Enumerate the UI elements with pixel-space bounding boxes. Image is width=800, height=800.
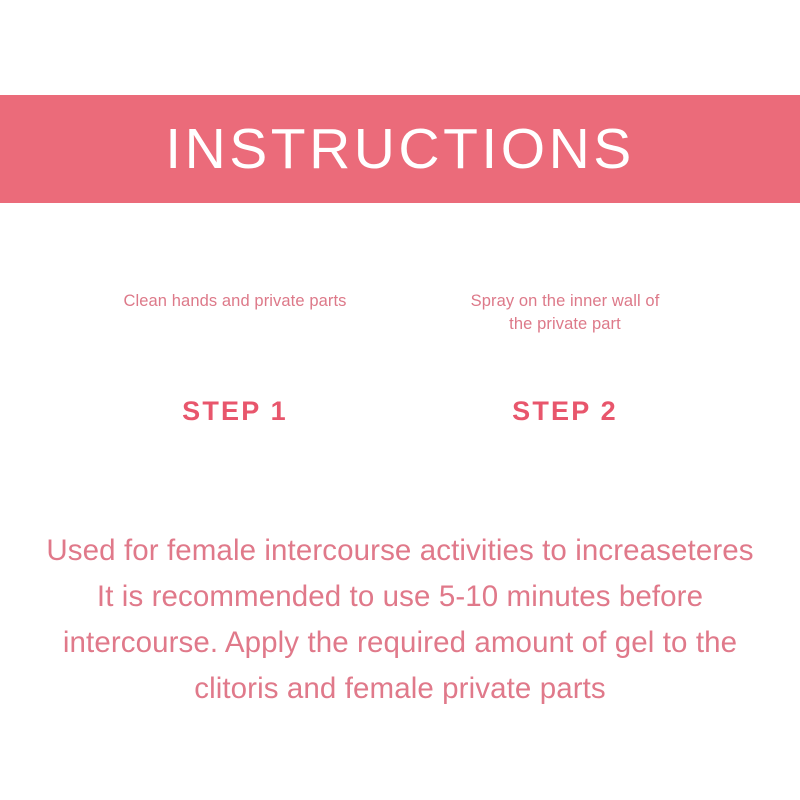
step-2-caption-line-1: Spray on the inner wall of	[400, 290, 730, 313]
step-1-caption-line-1: Clean hands and private parts	[70, 290, 400, 313]
step-2-caption-line-2: the private part	[400, 313, 730, 336]
step-item-1: Clean hands and private parts STEP 1	[70, 290, 400, 425]
step-2-label: STEP 2	[400, 398, 730, 425]
instructions-page: INSTRUCTIONS Clean hands and private par…	[0, 0, 800, 800]
body-line-1: Used for female intercourse activities t…	[0, 528, 800, 574]
step-item-2: Spray on the inner wall of the private p…	[400, 290, 730, 425]
header-banner: INSTRUCTIONS	[0, 95, 800, 203]
step-2-caption: Spray on the inner wall of the private p…	[400, 290, 730, 336]
body-line-3: intercourse. Apply the required amount o…	[0, 620, 800, 666]
body-line-4: clitoris and female private parts	[0, 666, 800, 712]
instructions-body: Used for female intercourse activities t…	[0, 528, 800, 712]
page-title: INSTRUCTIONS	[165, 121, 635, 178]
body-line-2: It is recommended to use 5-10 minutes be…	[0, 574, 800, 620]
steps-row: Clean hands and private parts STEP 1 Spr…	[0, 290, 800, 425]
step-1-label: STEP 1	[70, 398, 400, 425]
step-1-caption: Clean hands and private parts	[70, 290, 400, 336]
